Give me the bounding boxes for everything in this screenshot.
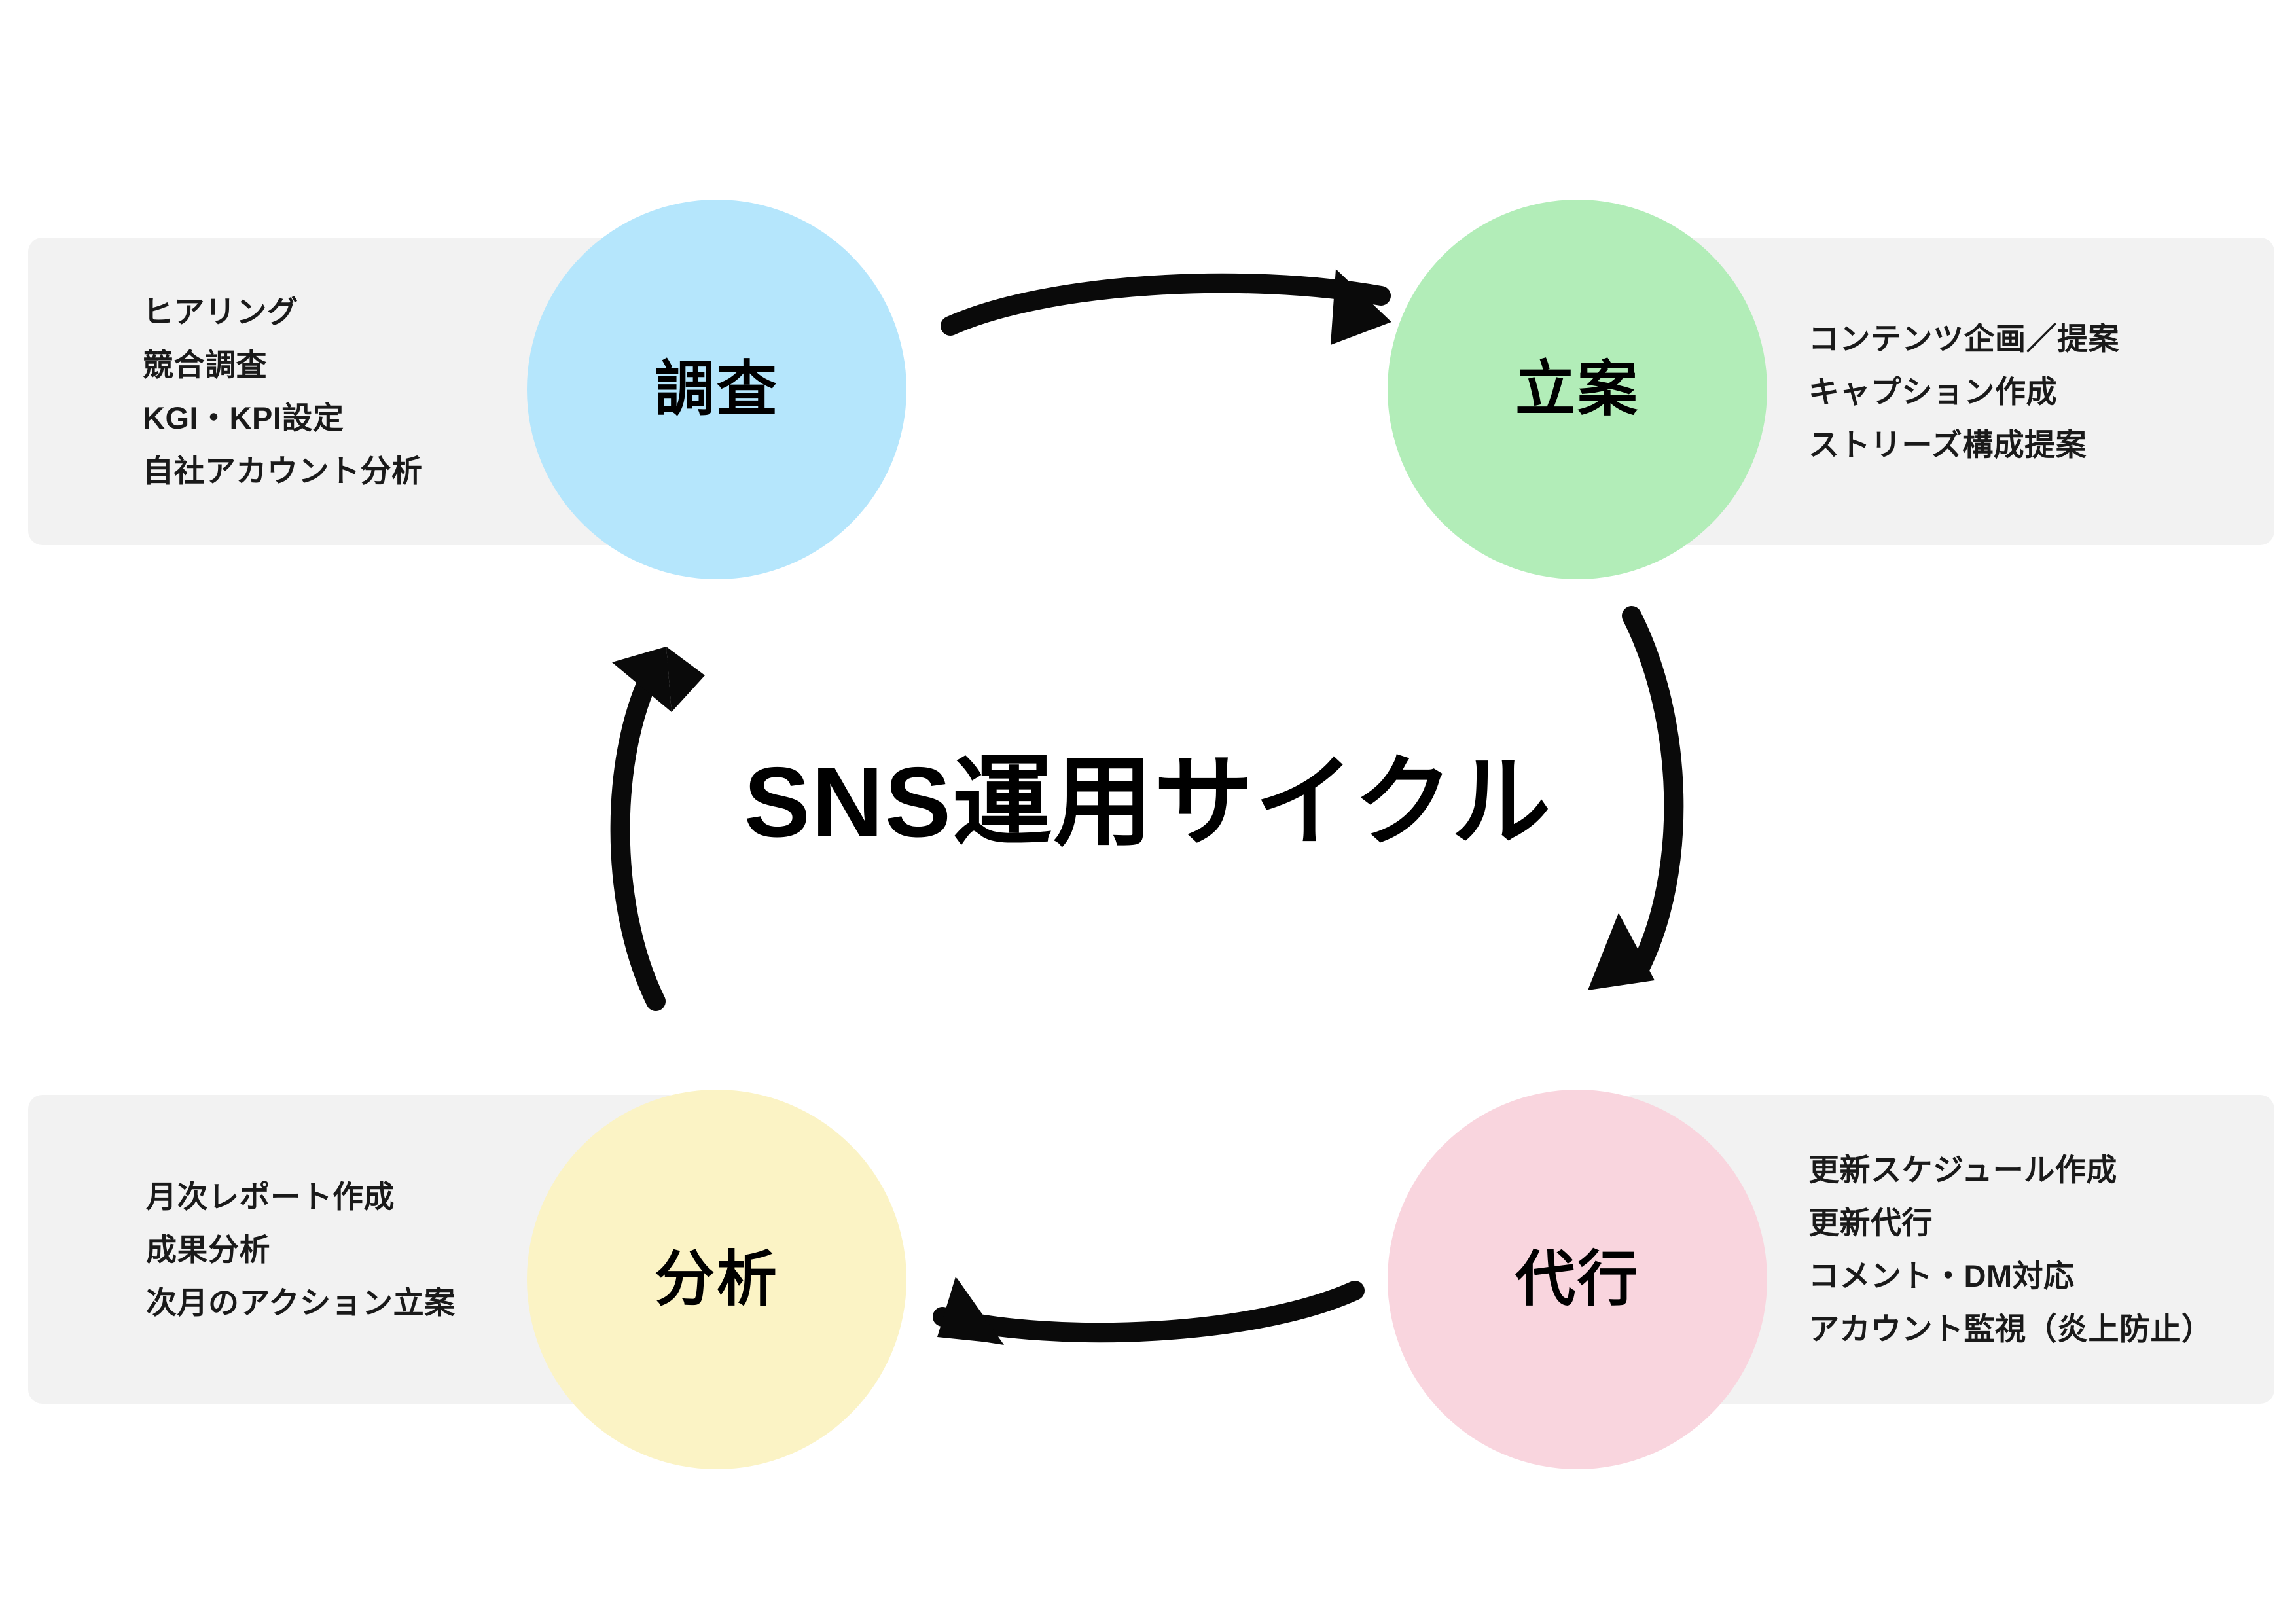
node-label: 調査	[655, 359, 779, 419]
node-analyze[interactable]: 分析	[527, 1090, 906, 1469]
diagram-title: SNS運用サイクル	[0, 753, 2296, 852]
node-label: 代行	[1515, 1249, 1640, 1310]
node-plan[interactable]: 立案	[1388, 200, 1767, 579]
panel-item: KGI・KPI設定	[143, 402, 344, 433]
panel-item: 自社アカウント分析	[143, 455, 423, 486]
arrow-operate-to-analyze	[937, 1277, 1355, 1345]
panel-item: 成果分析	[146, 1234, 270, 1265]
panel-item: 次月のアクション立案	[146, 1287, 456, 1318]
panel-item: キャプション作成	[1808, 376, 2057, 407]
panel-item: ヒアリング	[143, 296, 298, 327]
node-survey[interactable]: 調査	[527, 200, 906, 579]
panel-item: 競合調査	[143, 349, 267, 380]
panel-item: アカウント監視（炎上防止）	[1808, 1313, 2213, 1344]
panel-item: ストリーズ構成提案	[1808, 429, 2087, 460]
arrow-survey-to-plan	[950, 269, 1391, 345]
diagram-canvas: ヒアリング 競合調査 KGI・KPI設定 自社アカウント分析 コンテンツ企画／提…	[0, 0, 2296, 1623]
panel-item: 更新スケジュール作成	[1808, 1154, 2117, 1185]
node-label: 分析	[655, 1249, 779, 1310]
panel-item: コンテンツ企画／提案	[1808, 323, 2119, 354]
panel-item: コメント・DM対応	[1808, 1260, 2075, 1291]
panel-item: 更新代行	[1808, 1207, 1933, 1238]
node-operate[interactable]: 代行	[1388, 1090, 1767, 1469]
panel-item: 月次レポート作成	[146, 1181, 395, 1212]
node-label: 立案	[1515, 359, 1640, 419]
